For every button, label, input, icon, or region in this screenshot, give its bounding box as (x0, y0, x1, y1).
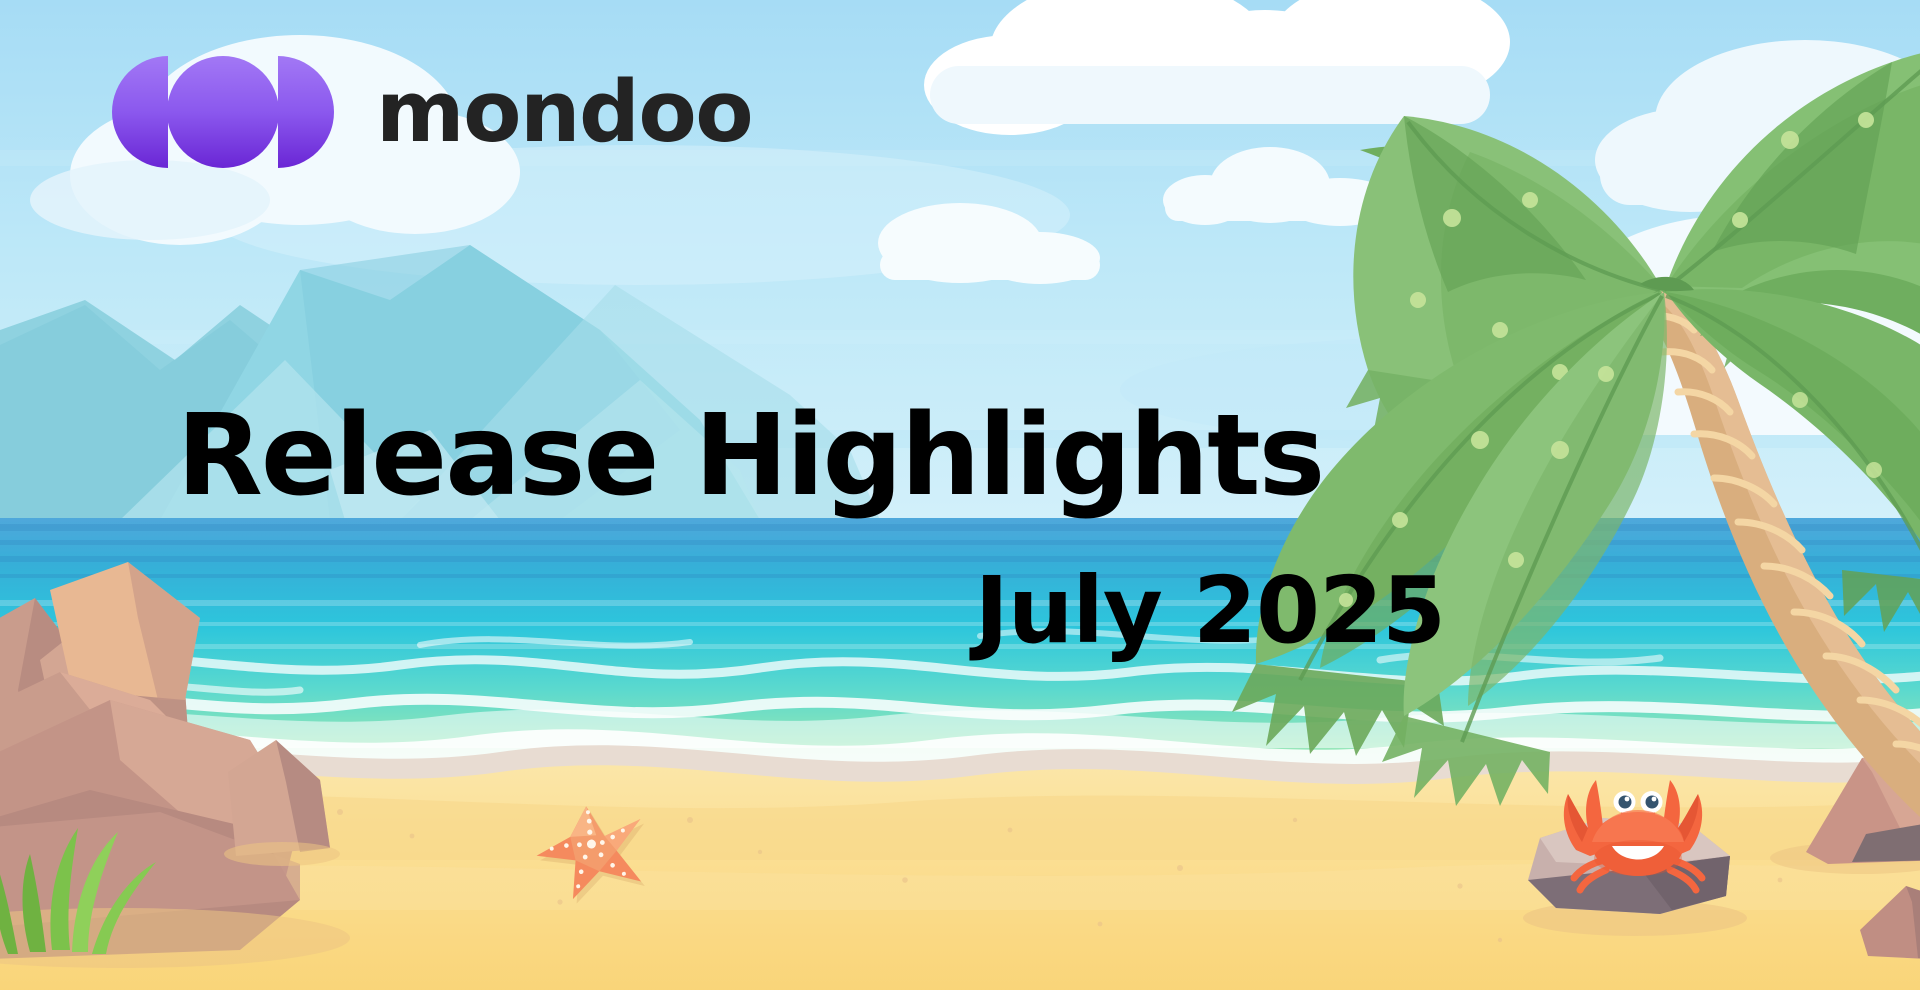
mondoo-logo-mark (112, 56, 334, 168)
mondoo-wordmark: mondoo (376, 70, 752, 155)
cloud-cluster-top-right (924, 0, 1510, 135)
release-highlights-banner: mondoo Release Highlights July 2025 (0, 0, 1920, 1005)
brand-lockup: mondoo (112, 56, 752, 168)
